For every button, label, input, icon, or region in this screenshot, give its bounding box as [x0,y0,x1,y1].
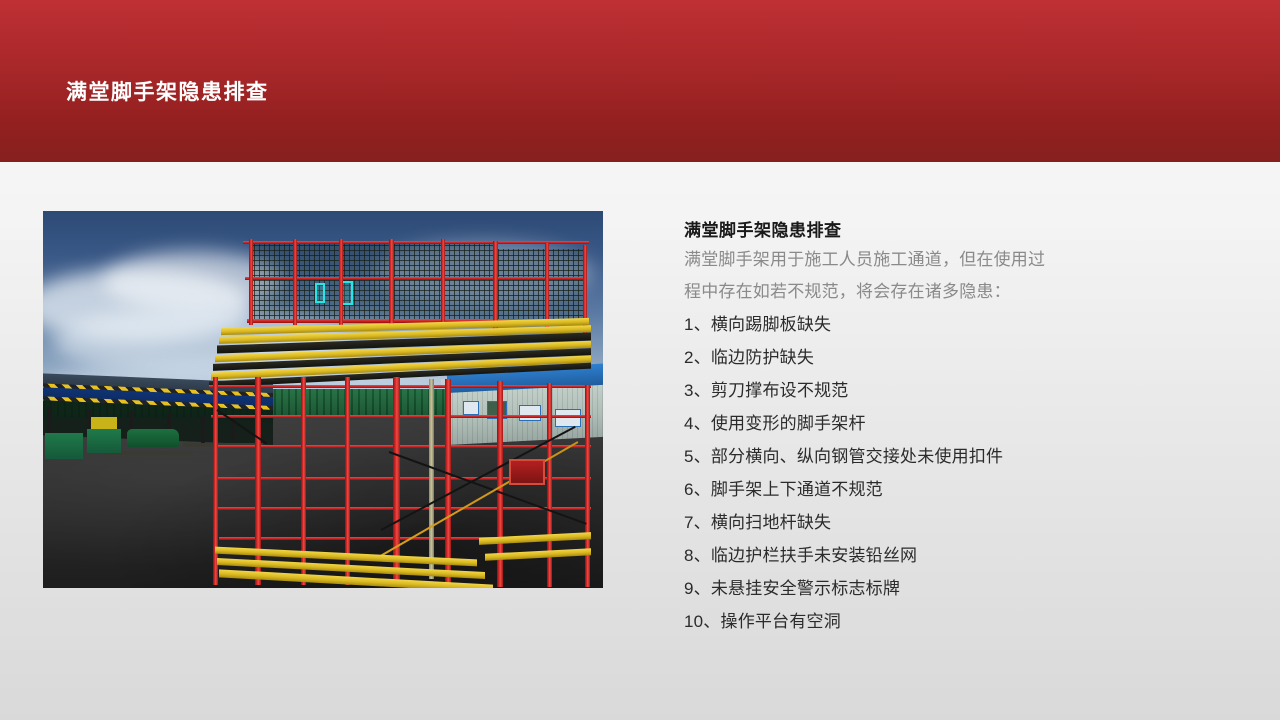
hazard-list: 1、横向踢脚板缺失 2、临边防护缺失 3、剪刀撑布设不规范 4、使用变形的脚手架… [684,308,1214,638]
list-item: 8、临边护栏扶手未安装铅丝网 [684,539,1214,572]
list-item-number: 4、 [684,407,711,440]
list-item-label: 横向踢脚板缺失 [711,315,831,334]
scaffold-post [293,239,297,325]
scaffold-post [545,243,549,331]
scaffold-post [249,239,253,325]
parked-vehicle [127,429,179,447]
list-item-label: 使用变形的脚手架杆 [711,414,866,433]
page-title: 满堂脚手架隐患排查 [66,76,269,106]
scaffold-post [339,239,343,325]
list-item: 10、操作平台有空洞 [684,605,1214,638]
list-item-number: 8、 [684,539,711,572]
waste-bin [87,429,121,453]
list-item: 1、横向踢脚板缺失 [684,308,1214,341]
scaffolding-scene-image: 满堂脚手架隐患排查现场示意提示信息 [43,211,603,588]
safety-mesh-net [493,249,585,321]
list-item: 6、脚手架上下通道不规范 [684,473,1214,506]
safety-mesh-net [249,243,497,321]
list-item-number: 9、 [684,572,711,605]
list-item-number: 3、 [684,374,711,407]
list-item-number: 10、 [684,605,721,638]
list-item-label: 未悬挂安全警示标志标牌 [711,579,900,598]
scissor-brace [389,451,587,525]
intro-line: 程中存在如若不规范，将会存在诸多隐患： [684,276,1214,308]
intro-line: 满堂脚手架用于施工人员施工通道，但在使用过 [684,244,1214,276]
list-item-label: 操作平台有空洞 [721,612,841,631]
panel-title: 满堂脚手架隐患排查 [684,218,1214,244]
list-item-number: 2、 [684,341,711,374]
scaffold-post [445,379,451,587]
page-header-banner: 满堂脚手架隐患排查 [0,0,1280,162]
scaffold-post [493,241,498,329]
scaffold-rail [217,507,591,510]
list-item-number: 1、 [684,308,711,341]
panel-intro: 满堂脚手架用于施工人员施工通道，但在使用过 程中存在如若不规范，将会存在诸多隐患… [684,244,1214,308]
list-item-label: 横向扫地杆缺失 [711,513,831,532]
list-item-number: 7、 [684,506,711,539]
cyan-highlight-marker [315,283,325,303]
scene-render: 满堂脚手架隐患排查现场示意提示信息 [43,211,603,588]
list-item: 9、未悬挂安全警示标志标牌 [684,572,1214,605]
scaffold-post [441,239,445,327]
list-item-label: 部分横向、纵向钢管交接处未使用扣件 [711,447,1003,466]
list-item: 7、横向扫地杆缺失 [684,506,1214,539]
list-item: 5、部分横向、纵向钢管交接处未使用扣件 [684,440,1214,473]
electrical-box [509,459,545,485]
scaffold-rail [209,385,591,388]
base-plank [479,532,591,545]
list-item: 2、临边防护缺失 [684,341,1214,374]
waste-bin [45,433,83,459]
list-item: 4、使用变形的脚手架杆 [684,407,1214,440]
full-hall-scaffolding [193,239,593,588]
scaffold-rail [211,415,591,418]
list-item-label: 剪刀撑布设不规范 [711,381,849,400]
list-item-label: 临边防护缺失 [711,348,814,367]
hazard-description-panel: 满堂脚手架隐患排查 满堂脚手架用于施工人员施工通道，但在使用过 程中存在如若不规… [684,218,1214,638]
list-item-number: 5、 [684,440,711,473]
scaffold-post [585,385,590,587]
list-item-number: 6、 [684,473,711,506]
list-item-label: 临边护栏扶手未安装铅丝网 [711,546,917,565]
list-item-label: 脚手架上下通道不规范 [711,480,883,499]
scaffold-post [389,239,394,327]
list-item: 3、剪刀撑布设不规范 [684,374,1214,407]
timber-support-post [429,379,434,579]
